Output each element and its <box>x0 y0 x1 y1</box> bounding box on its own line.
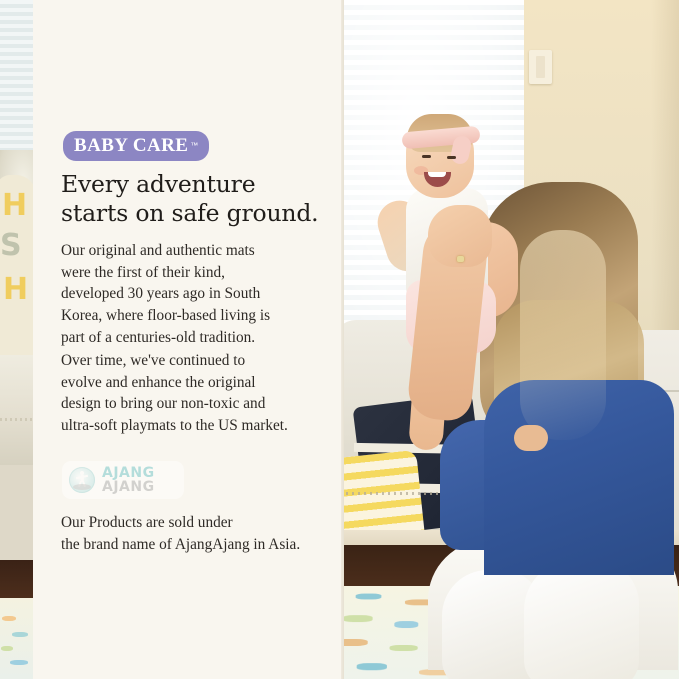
p1-line-3: developed 30 years ago in South <box>61 283 317 305</box>
heading-line-1: Every adventure <box>61 170 333 199</box>
light-switch-plate <box>529 50 552 84</box>
pillow-letter-s: S <box>0 228 22 263</box>
paragraph-evolution: Over time, we've continued to evolve and… <box>61 350 317 437</box>
p2-line-3: design to bring our non-toxic and <box>61 393 317 415</box>
pillow-letter-h: H <box>2 188 27 223</box>
p3-line-2: the brand name of AjangAjang in Asia. <box>61 534 317 556</box>
cushion-stitching <box>0 418 33 421</box>
p1-line-4: Korea, where floor-based living is <box>61 305 317 327</box>
product-lifestyle-image: H S H BABY CARE™ Every adventure starts … <box>0 0 679 679</box>
p2-line-4: ultra-soft playmats to the US market. <box>61 415 317 437</box>
mother-knee-right <box>524 560 639 679</box>
baby-teeth <box>428 172 446 177</box>
ajangajang-logo: AJANG AJANG <box>62 461 184 499</box>
trademark-symbol: ™ <box>190 141 198 150</box>
p3-line-1: Our Products are sold under <box>61 512 317 534</box>
p1-line-5: part of a centuries-old tradition. <box>61 327 317 349</box>
paragraph-asia-brand: Our Products are sold under the brand na… <box>61 512 317 555</box>
pillow-letter-h2: H <box>3 272 28 307</box>
baby-eye-left <box>422 155 431 158</box>
page-title: Every adventure starts on safe ground. <box>61 170 333 227</box>
ajang-word-bottom: AJANG <box>102 480 155 494</box>
mother-ring <box>457 256 464 262</box>
ajang-word-top: AJANG <box>102 466 155 480</box>
left-photo-sliver: H S H <box>0 0 33 679</box>
baby-care-logo-text: BABY CARE <box>74 136 188 155</box>
heading-line-2: starts on safe ground. <box>61 199 333 228</box>
child-figure-icon <box>69 467 95 493</box>
baby-eye-right <box>447 156 456 159</box>
p2-line-2: evolve and enhance the original <box>61 372 317 394</box>
window-blinds <box>0 0 33 160</box>
p1-line-1: Our original and authentic mats <box>61 240 317 262</box>
ajangajang-wordmark: AJANG AJANG <box>102 466 155 495</box>
baby-foot <box>514 425 548 451</box>
p2-line-1: Over time, we've continued to <box>61 350 317 372</box>
figure-base <box>73 484 91 490</box>
baby-care-logo-badge: BABY CARE™ <box>63 131 209 161</box>
lifestyle-photo <box>344 0 679 679</box>
paragraph-origin: Our original and authentic mats were the… <box>61 240 317 349</box>
playmat-strip <box>0 598 33 679</box>
mother-hair-highlight <box>520 230 606 440</box>
p1-line-2: were the first of their kind, <box>61 262 317 284</box>
sofa-cushion <box>0 355 33 465</box>
